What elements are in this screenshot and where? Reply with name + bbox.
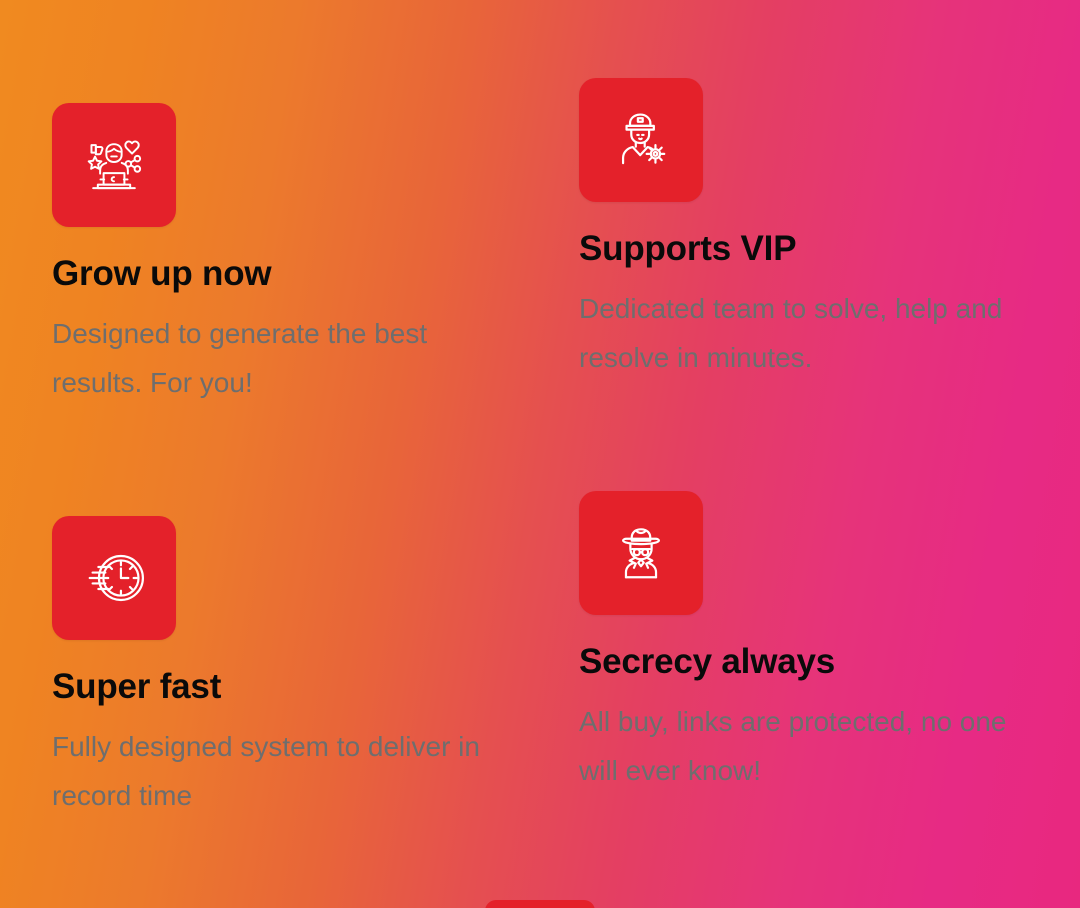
feature-card-super-fast: Super fast Fully designed system to deli… xyxy=(52,516,552,820)
feature-description: Dedicated team to solve, help and resolv… xyxy=(579,284,1029,382)
cta-button[interactable] xyxy=(485,900,595,908)
spy-detective-icon xyxy=(579,491,703,615)
feature-title: Grow up now xyxy=(52,256,552,293)
feature-title: Secrecy always xyxy=(579,644,1079,681)
features-grid: Grow up now Designed to generate the bes… xyxy=(0,0,1080,870)
feature-description: Fully designed system to deliver in reco… xyxy=(52,722,500,820)
feature-title: Super fast xyxy=(52,669,552,706)
feature-card-grow-up-now: Grow up now Designed to generate the bes… xyxy=(52,103,552,407)
person-at-laptop-social-icon xyxy=(52,103,176,227)
feature-card-secrecy-always: Secrecy always All buy, links are protec… xyxy=(579,491,1079,795)
feature-title: Supports VIP xyxy=(579,231,1079,268)
support-agent-gear-icon xyxy=(579,78,703,202)
feature-card-supports-vip: Supports VIP Dedicated team to solve, he… xyxy=(579,78,1079,382)
feature-description: Designed to generate the best results. F… xyxy=(52,309,500,407)
feature-description: All buy, links are protected, no one wil… xyxy=(579,697,1029,795)
fast-clock-speed-icon xyxy=(52,516,176,640)
